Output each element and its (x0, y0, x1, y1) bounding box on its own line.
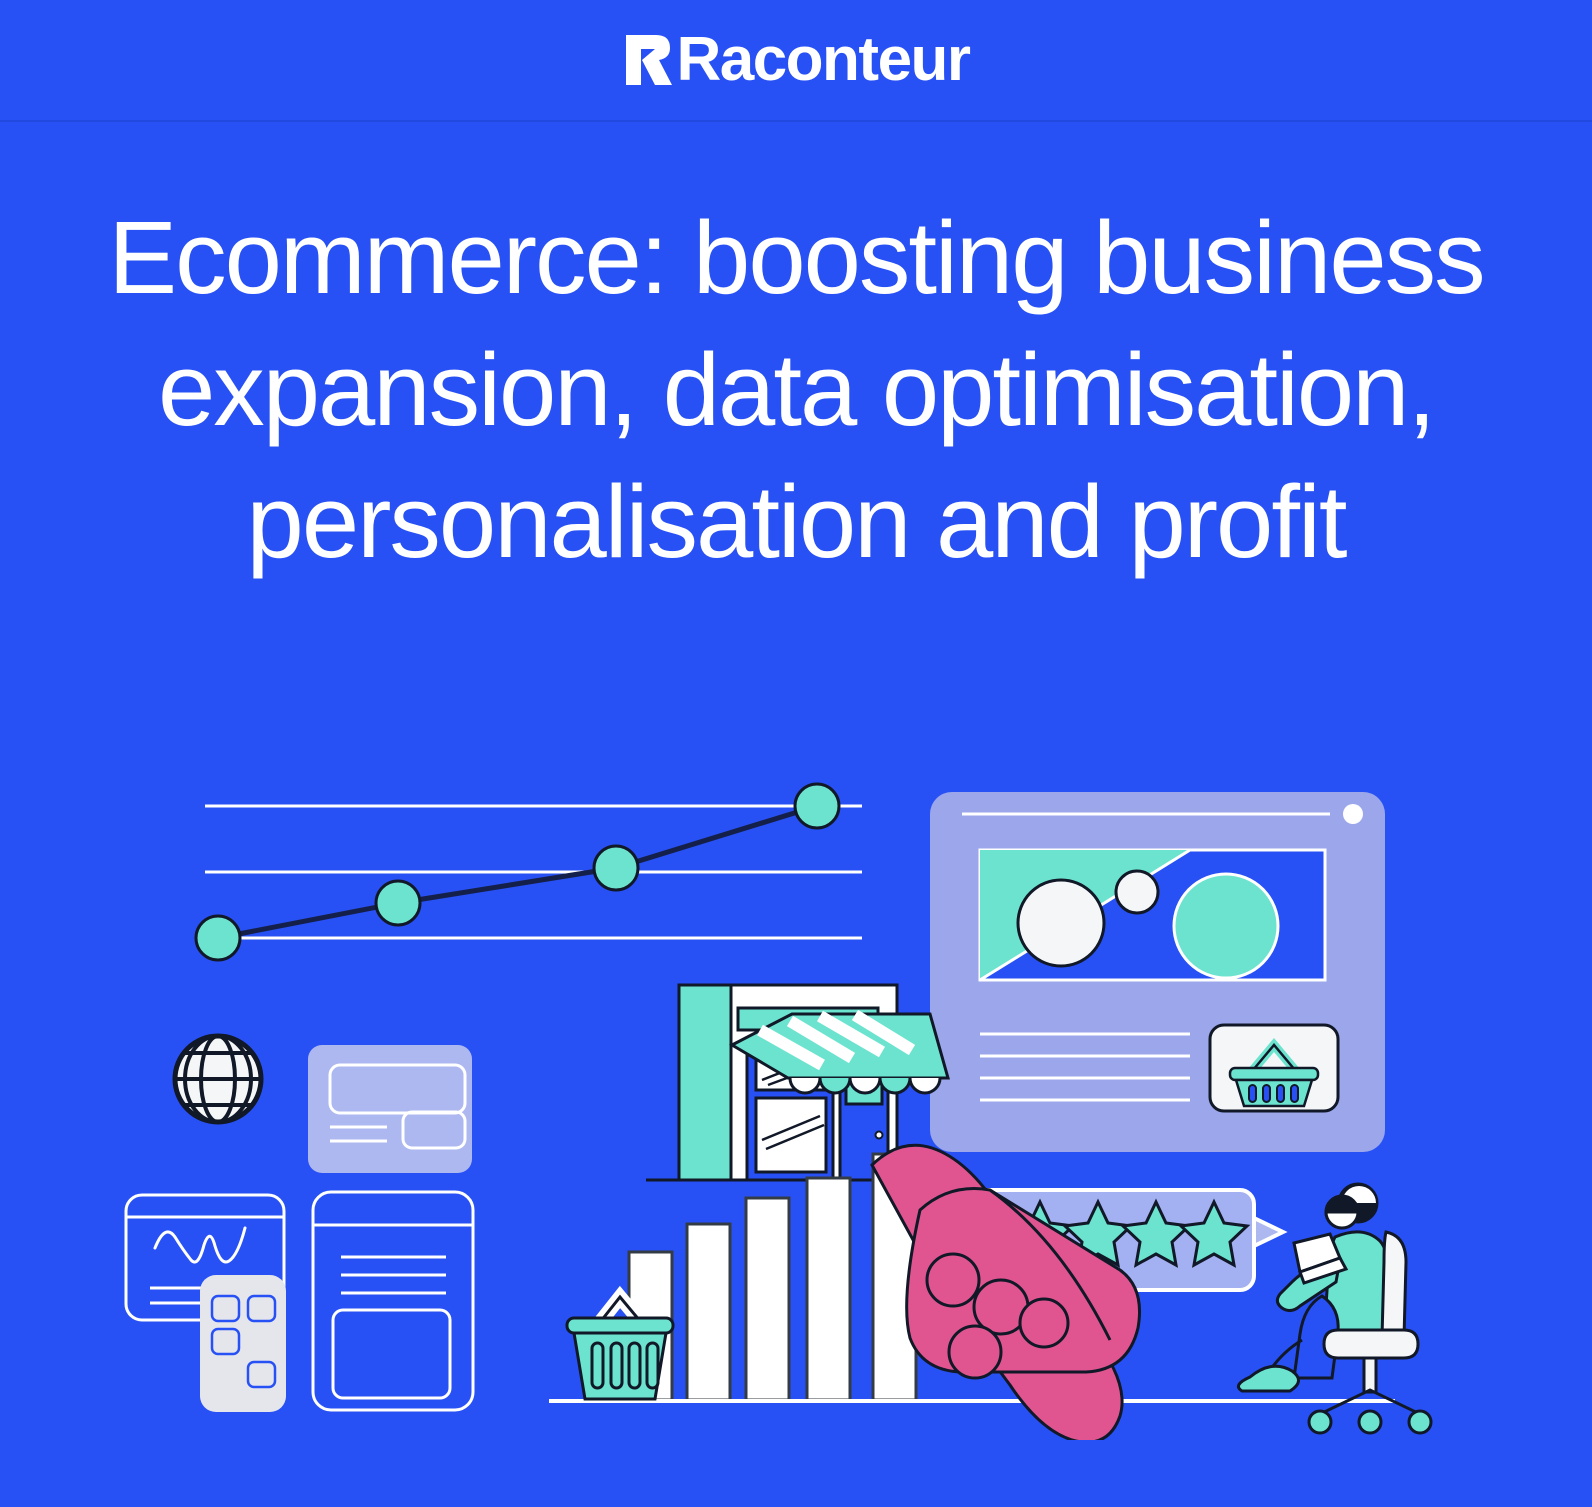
app-square[interactable] (248, 1362, 275, 1387)
line-chart-node (795, 784, 839, 828)
line-chart-node (594, 846, 638, 890)
browser-window-dot (1343, 804, 1363, 824)
site-header: Raconteur (0, 0, 1592, 122)
page-title: Ecommerce: boosting business expansion, … (0, 192, 1592, 587)
page-title-line-2: expansion, data optimisation, (8, 324, 1584, 456)
app-square[interactable] (212, 1296, 239, 1321)
add-to-basket-button[interactable] (1210, 1025, 1338, 1111)
app-square[interactable] (248, 1296, 275, 1321)
brand-logo[interactable]: Raconteur (622, 29, 969, 91)
person-at-desk (1238, 1184, 1431, 1433)
line-chart-node (196, 916, 240, 960)
hero-illustration (0, 740, 1592, 1440)
phone-apps-panel[interactable] (200, 1275, 286, 1412)
page-title-line-1: Ecommerce: boosting business (8, 192, 1584, 324)
bar (807, 1178, 850, 1400)
line-chart (196, 784, 862, 960)
form-card[interactable] (308, 1045, 472, 1173)
browser-hero-image (980, 850, 1325, 980)
document-window[interactable] (313, 1192, 473, 1410)
app-square[interactable] (212, 1329, 239, 1354)
bar (687, 1224, 730, 1400)
globe-icon (175, 1036, 261, 1122)
browser-window[interactable] (930, 792, 1385, 1152)
brand-name: Raconteur (676, 29, 969, 91)
bar (746, 1198, 789, 1400)
line-chart-node (376, 881, 420, 925)
raconteur-r-mark-icon (622, 31, 674, 89)
page-title-line-3: personalisation and profit (8, 456, 1584, 588)
page-root: Raconteur Ecommerce: boosting business e… (0, 0, 1592, 1507)
